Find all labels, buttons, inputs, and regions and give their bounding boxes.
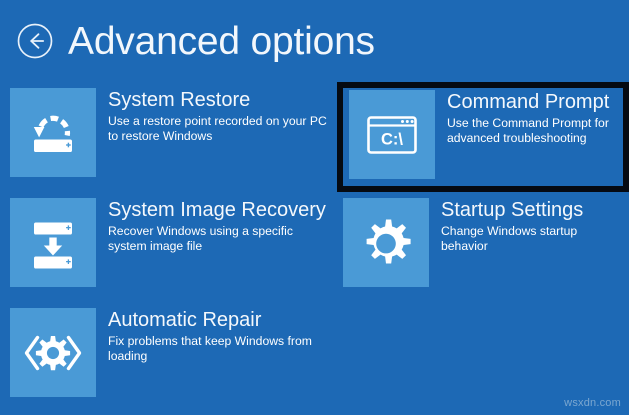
system-image-recovery-icon: [25, 215, 81, 271]
option-description: Recover Windows using a specific system …: [108, 224, 328, 254]
command-prompt-icon-tile: C:\: [349, 90, 435, 179]
option-command-prompt[interactable]: C:\ Command Prompt Use the Command Promp…: [337, 82, 629, 192]
option-row: System Restore Use a restore point recor…: [0, 82, 629, 192]
option-title: System Image Recovery: [108, 198, 328, 222]
automatic-repair-icon: [22, 330, 84, 376]
option-text-block: Startup Settings Change Windows startup …: [429, 198, 625, 254]
option-text-block: System Restore Use a restore point recor…: [96, 88, 328, 144]
option-automatic-repair[interactable]: Automatic Repair Fix problems that keep …: [10, 308, 328, 406]
system-restore-icon-tile: [10, 88, 96, 177]
svg-text:C:\: C:\: [381, 130, 403, 148]
option-description: Use a restore point recorded on your PC …: [108, 114, 328, 144]
option-title: System Restore: [108, 88, 328, 112]
advanced-options-list: System Restore Use a restore point recor…: [0, 82, 629, 415]
automatic-repair-icon-tile: [10, 308, 96, 397]
option-text-block: Automatic Repair Fix problems that keep …: [96, 308, 328, 364]
option-title: Automatic Repair: [108, 308, 328, 332]
option-description: Change Windows startup behavior: [441, 224, 625, 254]
option-title: Command Prompt: [447, 90, 623, 114]
system-restore-icon: [25, 105, 81, 161]
startup-settings-gear-icon: [360, 217, 412, 269]
option-row: System Image Recovery Recover Windows us…: [0, 192, 629, 302]
option-system-image-recovery[interactable]: System Image Recovery Recover Windows us…: [10, 198, 328, 296]
option-title: Startup Settings: [441, 198, 625, 222]
system-image-recovery-icon-tile: [10, 198, 96, 287]
option-system-restore[interactable]: System Restore Use a restore point recor…: [10, 88, 328, 186]
page-header: Advanced options: [0, 0, 629, 82]
back-arrow-circle-icon: [16, 22, 54, 60]
page-title: Advanced options: [68, 22, 375, 61]
command-prompt-icon: C:\: [364, 111, 420, 159]
option-text-block: System Image Recovery Recover Windows us…: [96, 198, 328, 254]
watermark: wsxdn.com: [564, 397, 621, 409]
option-startup-settings[interactable]: Startup Settings Change Windows startup …: [343, 198, 625, 296]
back-button[interactable]: [16, 22, 54, 60]
option-row: Automatic Repair Fix problems that keep …: [0, 302, 629, 412]
option-text-block: Command Prompt Use the Command Prompt fo…: [435, 90, 623, 146]
option-description: Fix problems that keep Windows from load…: [108, 334, 328, 364]
startup-settings-icon-tile: [343, 198, 429, 287]
option-description: Use the Command Prompt for advanced trou…: [447, 116, 623, 146]
